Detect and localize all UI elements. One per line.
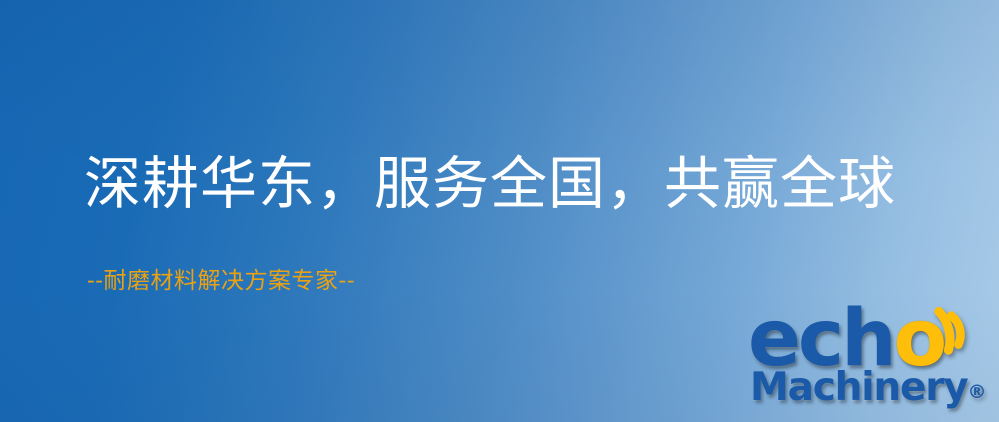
banner-subtitle: --耐磨材料解决方案专家-- (87, 268, 355, 296)
logo-subword: Machinery® (750, 368, 986, 407)
company-logo[interactable]: echo Machinery® (748, 300, 999, 422)
banner-headline: 深耕华东，服务全国，共赢全球 (84, 154, 896, 216)
hero-banner: 深耕华东，服务全国，共赢全球 --耐磨材料解决方案专家-- echo Machi… (0, 0, 999, 422)
logo-subword-text: Machinery (750, 365, 967, 410)
registered-trademark-icon: ® (967, 381, 986, 403)
signal-waves-icon (931, 296, 995, 356)
